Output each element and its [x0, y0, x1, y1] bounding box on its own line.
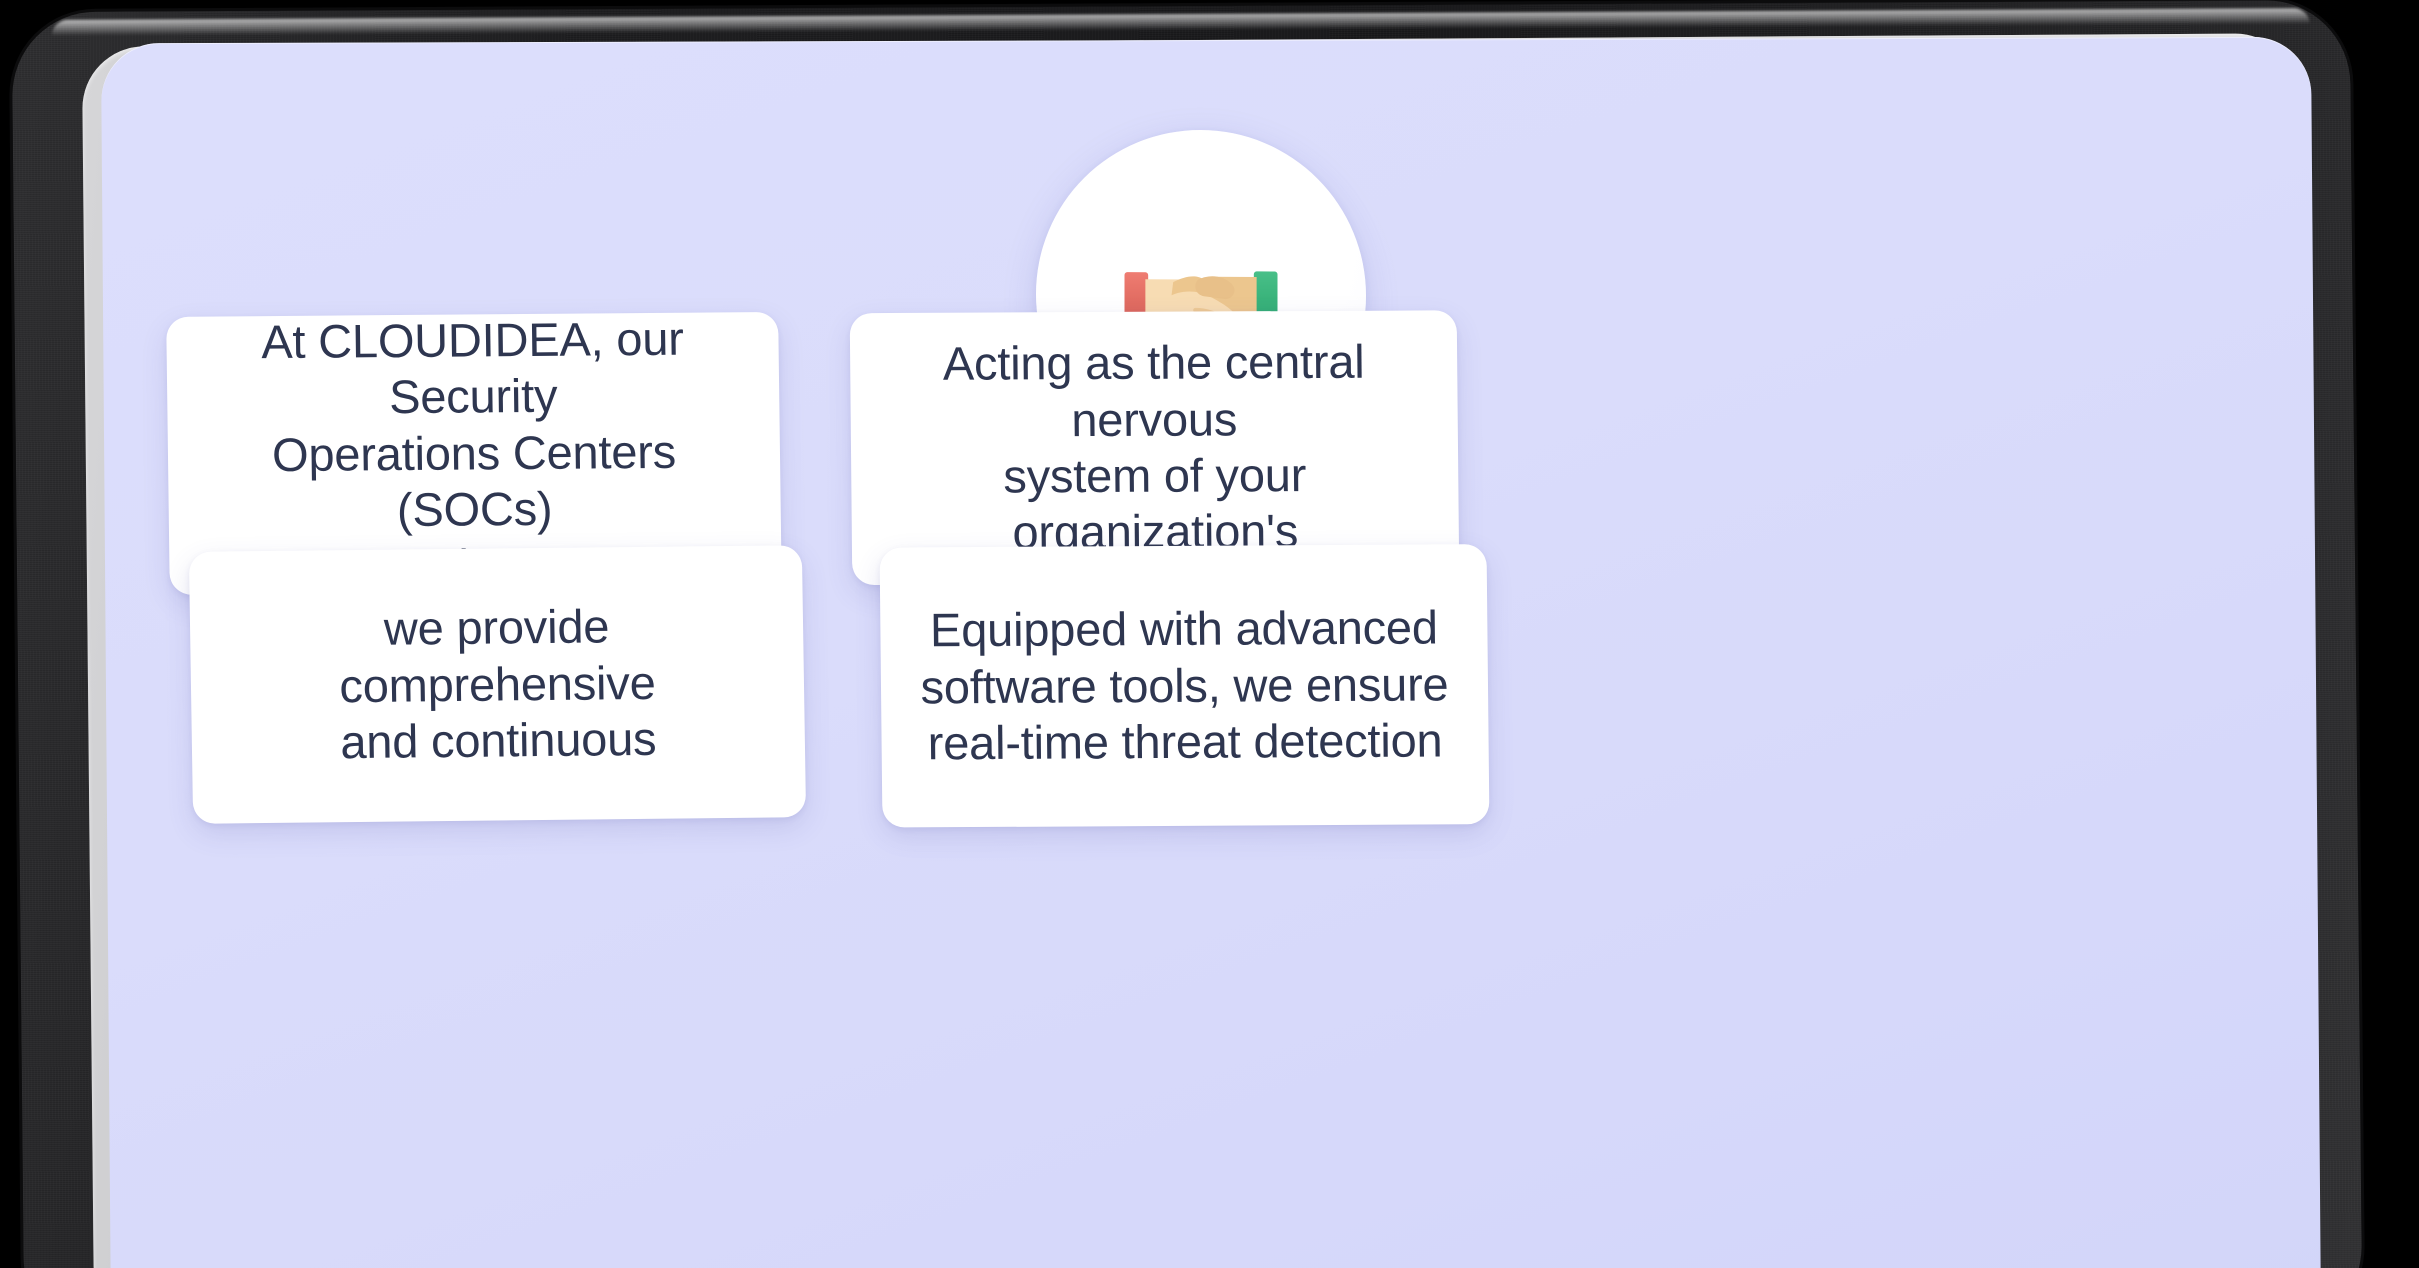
device-screen: At CLOUDIDEA, our Security Operations Ce…: [101, 37, 2321, 1268]
info-card[interactable]: Equipped with advanced software tools, w…: [880, 544, 1490, 827]
frame-top-highlight: [52, 8, 2310, 36]
info-card-text: Acting as the central nervous system of …: [880, 334, 1429, 562]
info-card-text: we provide comprehensive and continuous: [220, 597, 776, 772]
info-card-text: Equipped with advanced software tools, w…: [920, 600, 1450, 772]
info-card[interactable]: we provide comprehensive and continuous: [189, 545, 806, 824]
slide-canvas: At CLOUDIDEA, our Security Operations Ce…: [106, 37, 2316, 1268]
screenshot-stage: At CLOUDIDEA, our Security Operations Ce…: [0, 0, 2419, 1268]
